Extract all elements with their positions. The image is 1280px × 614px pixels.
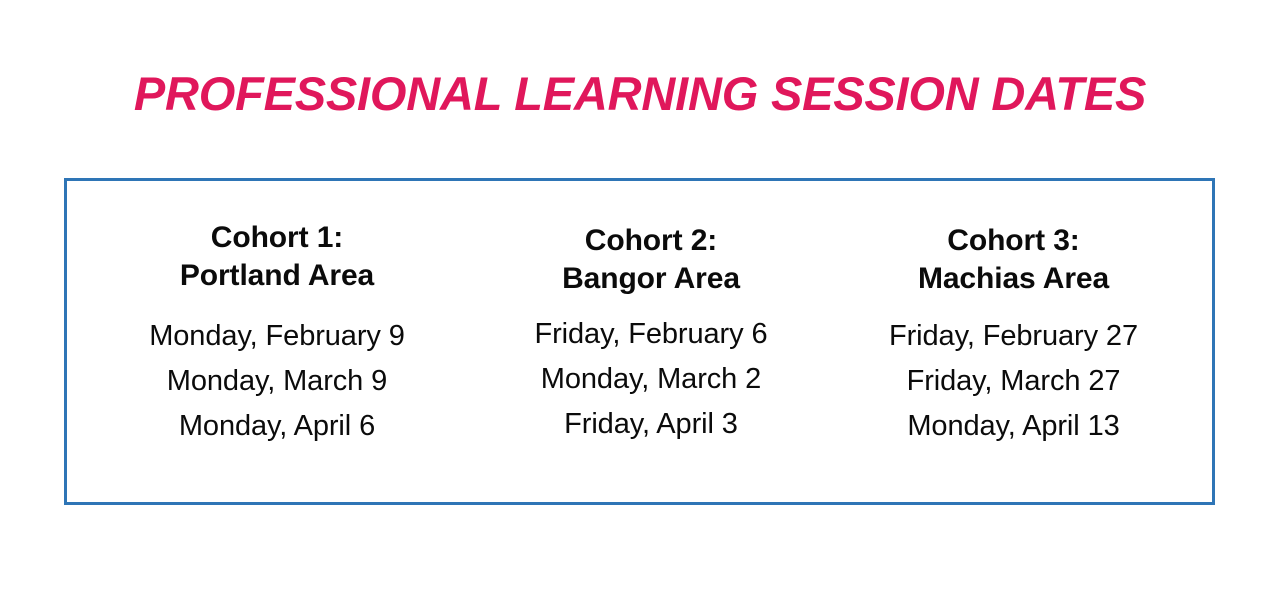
list-item: Monday, February 9 xyxy=(64,314,490,359)
cohort-column-1: Cohort 1: Portland Area Monday, February… xyxy=(64,178,490,449)
cohort-column-3: Cohort 3: Machias Area Friday, February … xyxy=(812,178,1215,449)
cohort-3-heading: Cohort 3: Machias Area xyxy=(812,222,1215,298)
list-item: Monday, April 13 xyxy=(812,404,1215,449)
cohort-2-date-list: Friday, February 6 Monday, March 2 Frida… xyxy=(490,312,812,447)
page-title: PROFESSIONAL LEARNING SESSION DATES xyxy=(0,66,1280,122)
cohort-3-heading-line1: Cohort 3: xyxy=(812,222,1215,260)
cohort-column-2: Cohort 2: Bangor Area Friday, February 6… xyxy=(490,178,812,447)
cohort-1-heading-line2: Portland Area xyxy=(64,257,490,295)
cohort-2-heading-line1: Cohort 2: xyxy=(490,222,812,260)
list-item: Friday, February 6 xyxy=(490,312,812,357)
cohort-3-date-list: Friday, February 27 Friday, March 27 Mon… xyxy=(812,314,1215,449)
cohort-1-date-list: Monday, February 9 Monday, March 9 Monda… xyxy=(64,314,490,449)
cohort-columns: Cohort 1: Portland Area Monday, February… xyxy=(64,178,1215,505)
list-item: Monday, March 9 xyxy=(64,359,490,404)
list-item: Monday, March 2 xyxy=(490,357,812,402)
cohort-3-heading-line2: Machias Area xyxy=(812,260,1215,298)
cohort-1-heading-line1: Cohort 1: xyxy=(64,219,490,257)
list-item: Friday, March 27 xyxy=(812,359,1215,404)
cohort-1-heading: Cohort 1: Portland Area xyxy=(64,219,490,295)
list-item: Friday, April 3 xyxy=(490,402,812,447)
list-item: Friday, February 27 xyxy=(812,314,1215,359)
cohort-2-heading: Cohort 2: Bangor Area xyxy=(490,222,812,298)
cohort-2-heading-line2: Bangor Area xyxy=(490,260,812,298)
list-item: Monday, April 6 xyxy=(64,404,490,449)
